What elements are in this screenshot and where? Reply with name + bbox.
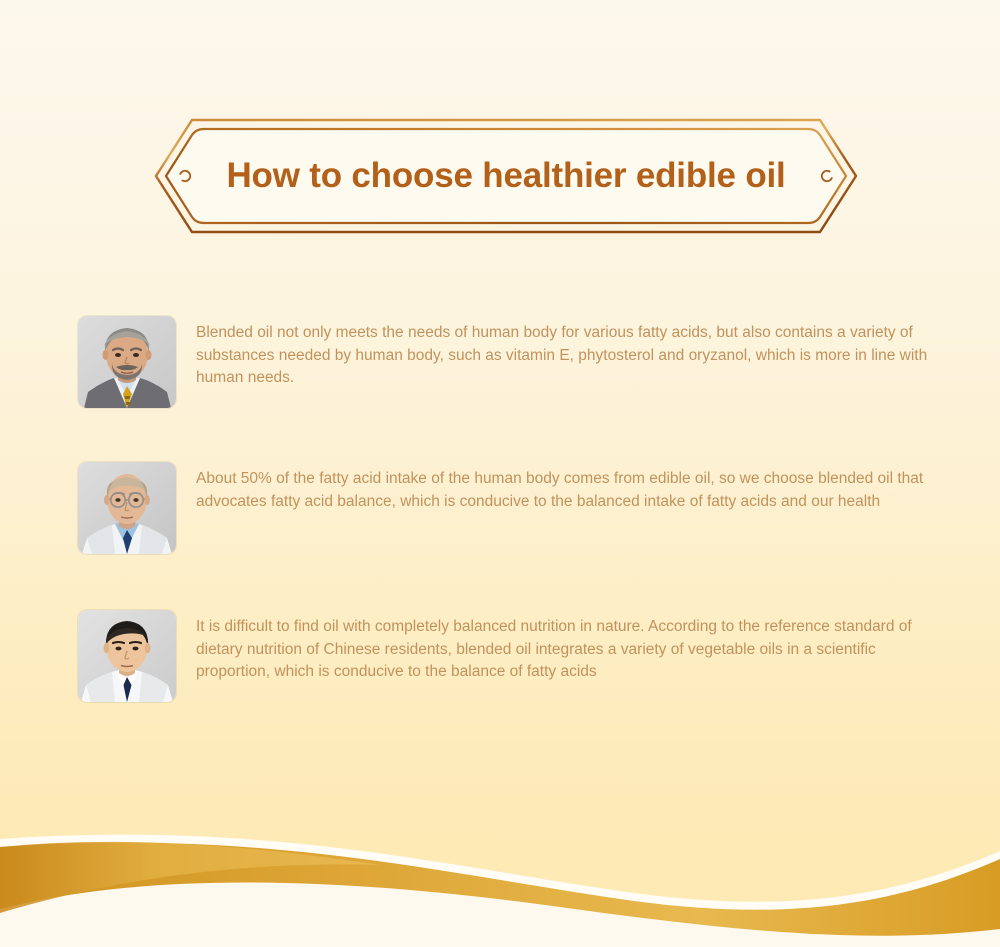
portrait-expert-2	[78, 462, 176, 554]
quote-text: About 50% of the fatty acid intake of th…	[196, 462, 931, 513]
portrait-expert-3-image	[78, 610, 176, 702]
list-item: About 50% of the fatty acid intake of th…	[78, 462, 958, 554]
quote-text: Blended oil not only meets the needs of …	[196, 316, 931, 390]
list-item: It is difficult to find oil with complet…	[78, 610, 958, 702]
portrait-expert-1-image	[78, 316, 176, 408]
portrait-expert-3	[78, 610, 176, 702]
page-title: How to choose healthier edible oil	[148, 112, 864, 240]
title-banner: How to choose healthier edible oil	[148, 112, 864, 240]
quote-text: It is difficult to find oil with complet…	[196, 610, 931, 684]
footer-wave-decoration	[0, 817, 1000, 947]
list-item: Blended oil not only meets the needs of …	[78, 316, 958, 408]
portrait-expert-1	[78, 316, 176, 408]
portrait-expert-2-image	[78, 462, 176, 554]
footer-wave-shape	[0, 817, 1000, 947]
